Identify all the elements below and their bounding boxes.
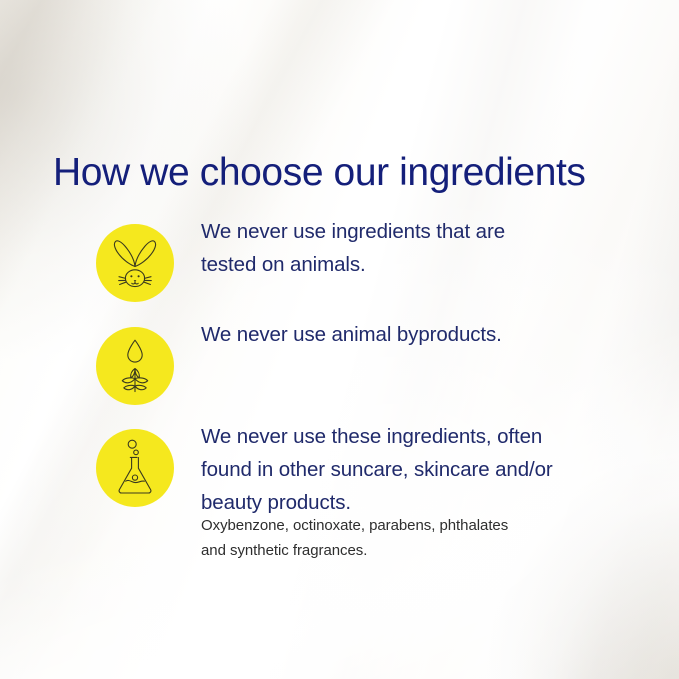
claim-icon-badge <box>96 327 174 405</box>
fine-print-line: Oxybenzone, octinoxate, parabens, phthal… <box>201 514 631 539</box>
fine-print-disclaimer: Oxybenzone, octinoxate, parabens, phthal… <box>201 514 631 563</box>
claim-text: We never use animal byproducts. <box>201 318 621 351</box>
claim-text-line: We never use animal byproducts. <box>201 318 621 351</box>
claim-icon-badge <box>96 429 174 507</box>
claim-item-no-animal-byproducts: We never use animal byproducts. <box>0 318 679 400</box>
claim-text-line: We never use these ingredients, often <box>201 420 621 453</box>
fine-print-line: and synthetic fragrances. <box>201 539 631 564</box>
bunny-heart-ears-icon <box>112 235 158 291</box>
claim-icon-badge <box>96 224 174 302</box>
claim-text-line: tested on animals. <box>201 248 621 281</box>
content-container: How we choose our ingredients <box>0 0 679 679</box>
claim-text: We never use ingredients that are tested… <box>201 215 621 281</box>
ingredients-infographic-card: How we choose our ingredients <box>0 0 679 679</box>
claim-item-no-harmful-chemicals: We never use these ingredients, often fo… <box>0 420 679 502</box>
claim-text-line: We never use ingredients that are <box>201 215 621 248</box>
plant-leaf-droplet-icon <box>115 338 155 394</box>
claim-text: We never use these ingredients, often fo… <box>201 420 621 519</box>
page-title: How we choose our ingredients <box>53 149 586 197</box>
claim-text-line: found in other suncare, skincare and/or <box>201 453 621 486</box>
flask-bubbles-icon <box>113 439 157 497</box>
claim-item-cruelty-free: We never use ingredients that are tested… <box>0 215 679 297</box>
claims-list: We never use ingredients that are tested… <box>0 215 679 502</box>
